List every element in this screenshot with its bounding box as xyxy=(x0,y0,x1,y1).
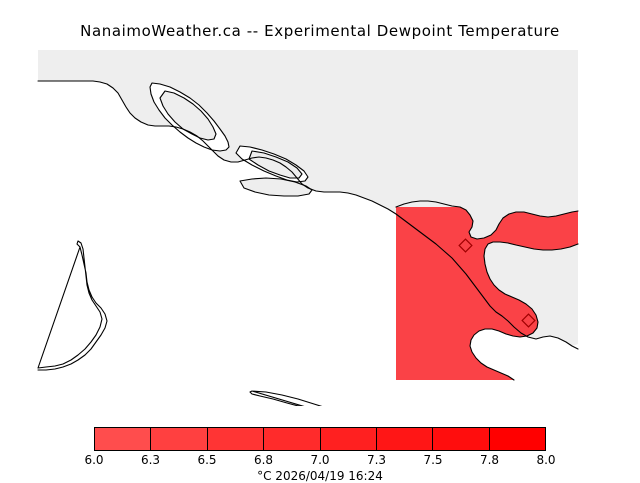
colorbar-cell-5 xyxy=(377,428,433,450)
colorbar-gradient[interactable] xyxy=(94,427,546,451)
colorbar-tick-0: 6.0 xyxy=(84,453,103,467)
map-graphic xyxy=(0,46,640,406)
colorbar-tick-8: 8.0 xyxy=(536,453,555,467)
colorbar-cell-2 xyxy=(208,428,264,450)
colorbar-caption: °C 2026/04/19 16:24 xyxy=(0,469,640,483)
colorbar-cell-4 xyxy=(321,428,377,450)
colorbar-tick-labels: 6.06.36.56.87.07.37.57.88.0 xyxy=(0,453,640,469)
colorbar-tick-1: 6.3 xyxy=(141,453,160,467)
colorbar-tick-5: 7.3 xyxy=(367,453,386,467)
colorbar-legend: 6.06.36.56.87.07.37.57.88.0 °C 2026/04/1… xyxy=(0,420,640,480)
colorbar-cell-0 xyxy=(95,428,151,450)
colorbar-tick-6: 7.5 xyxy=(423,453,442,467)
page-title: NanaimoWeather.ca -- Experimental Dewpoi… xyxy=(0,22,640,40)
colorbar-tick-2: 6.5 xyxy=(197,453,216,467)
map-canvas[interactable] xyxy=(0,46,640,406)
colorbar-cell-1 xyxy=(151,428,207,450)
weather-map-page: NanaimoWeather.ca -- Experimental Dewpoi… xyxy=(0,0,640,480)
colorbar-cell-7 xyxy=(490,428,545,450)
colorbar-tick-7: 7.8 xyxy=(480,453,499,467)
colorbar-cell-6 xyxy=(433,428,489,450)
colorbar-tick-4: 7.0 xyxy=(310,453,329,467)
colorbar-tick-3: 6.8 xyxy=(254,453,273,467)
colorbar-cell-3 xyxy=(264,428,320,450)
